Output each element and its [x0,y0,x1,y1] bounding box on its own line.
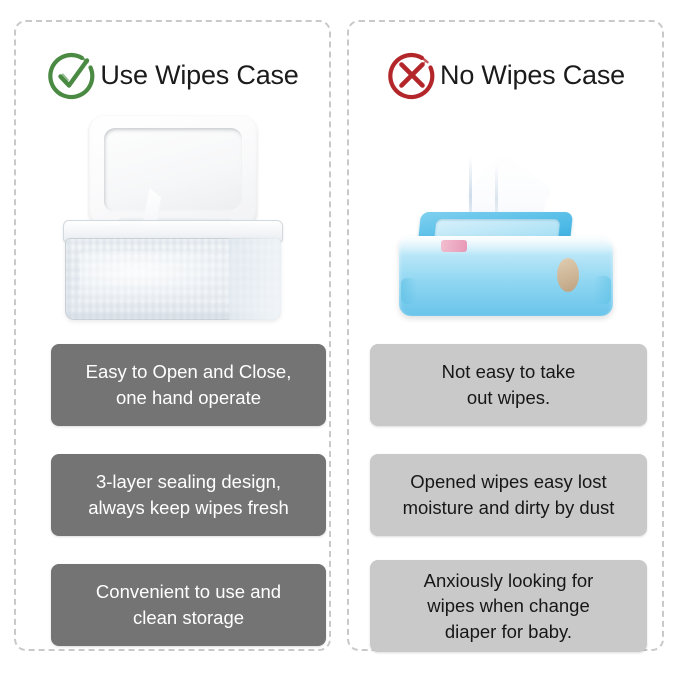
red-cross-circle-icon [386,49,438,101]
pouch-baby-label [557,258,579,292]
column-no-wipes-case: No Wipes Case Not easy to take ou [347,20,664,651]
case-lid [89,116,257,228]
feature-box: 3-layer sealing design, always keep wipe… [51,454,326,536]
green-check-circle-icon [46,49,98,101]
product-image-right [349,102,662,324]
feature-box: Anxiously looking for wipes when change … [370,560,647,652]
page-title-right: No Wipes Case [440,62,625,89]
pouch-seal-tab [441,240,467,252]
pouch-body [399,236,613,316]
pouch-right-crease [593,276,611,304]
column-header-left: Use Wipes Case [16,44,329,106]
page-title-left: Use Wipes Case [100,62,298,89]
column-header-right: No Wipes Case [349,44,662,106]
pouch-left-crease [401,278,417,304]
feature-box: Not easy to take out wipes. [370,344,647,426]
feature-box: Convenient to use and clean storage [51,564,326,646]
comparison-infographic: Use Wipes Case Easy to Open and Close, o… [0,0,679,679]
case-lid-inner-panel [104,128,242,212]
blue-wipes-pouch-illustration [399,150,613,320]
feature-box: Opened wipes easy lost moisture and dirt… [370,454,647,536]
clear-wipes-case-illustration [61,116,285,321]
feature-text: 3-layer sealing design, always keep wipe… [88,469,289,520]
feature-text: Easy to Open and Close, one hand operate [86,359,292,410]
feature-box: Easy to Open and Close, one hand operate [51,344,326,426]
feature-text: Anxiously looking for wipes when change … [424,568,594,645]
product-image-left [16,102,329,324]
case-side-highlight [229,238,281,320]
column-use-wipes-case: Use Wipes Case Easy to Open and Close, o… [14,20,331,651]
feature-text: Convenient to use and clean storage [96,579,281,630]
feature-text: Not easy to take out wipes. [442,359,576,410]
feature-text: Opened wipes easy lost moisture and dirt… [403,469,615,520]
